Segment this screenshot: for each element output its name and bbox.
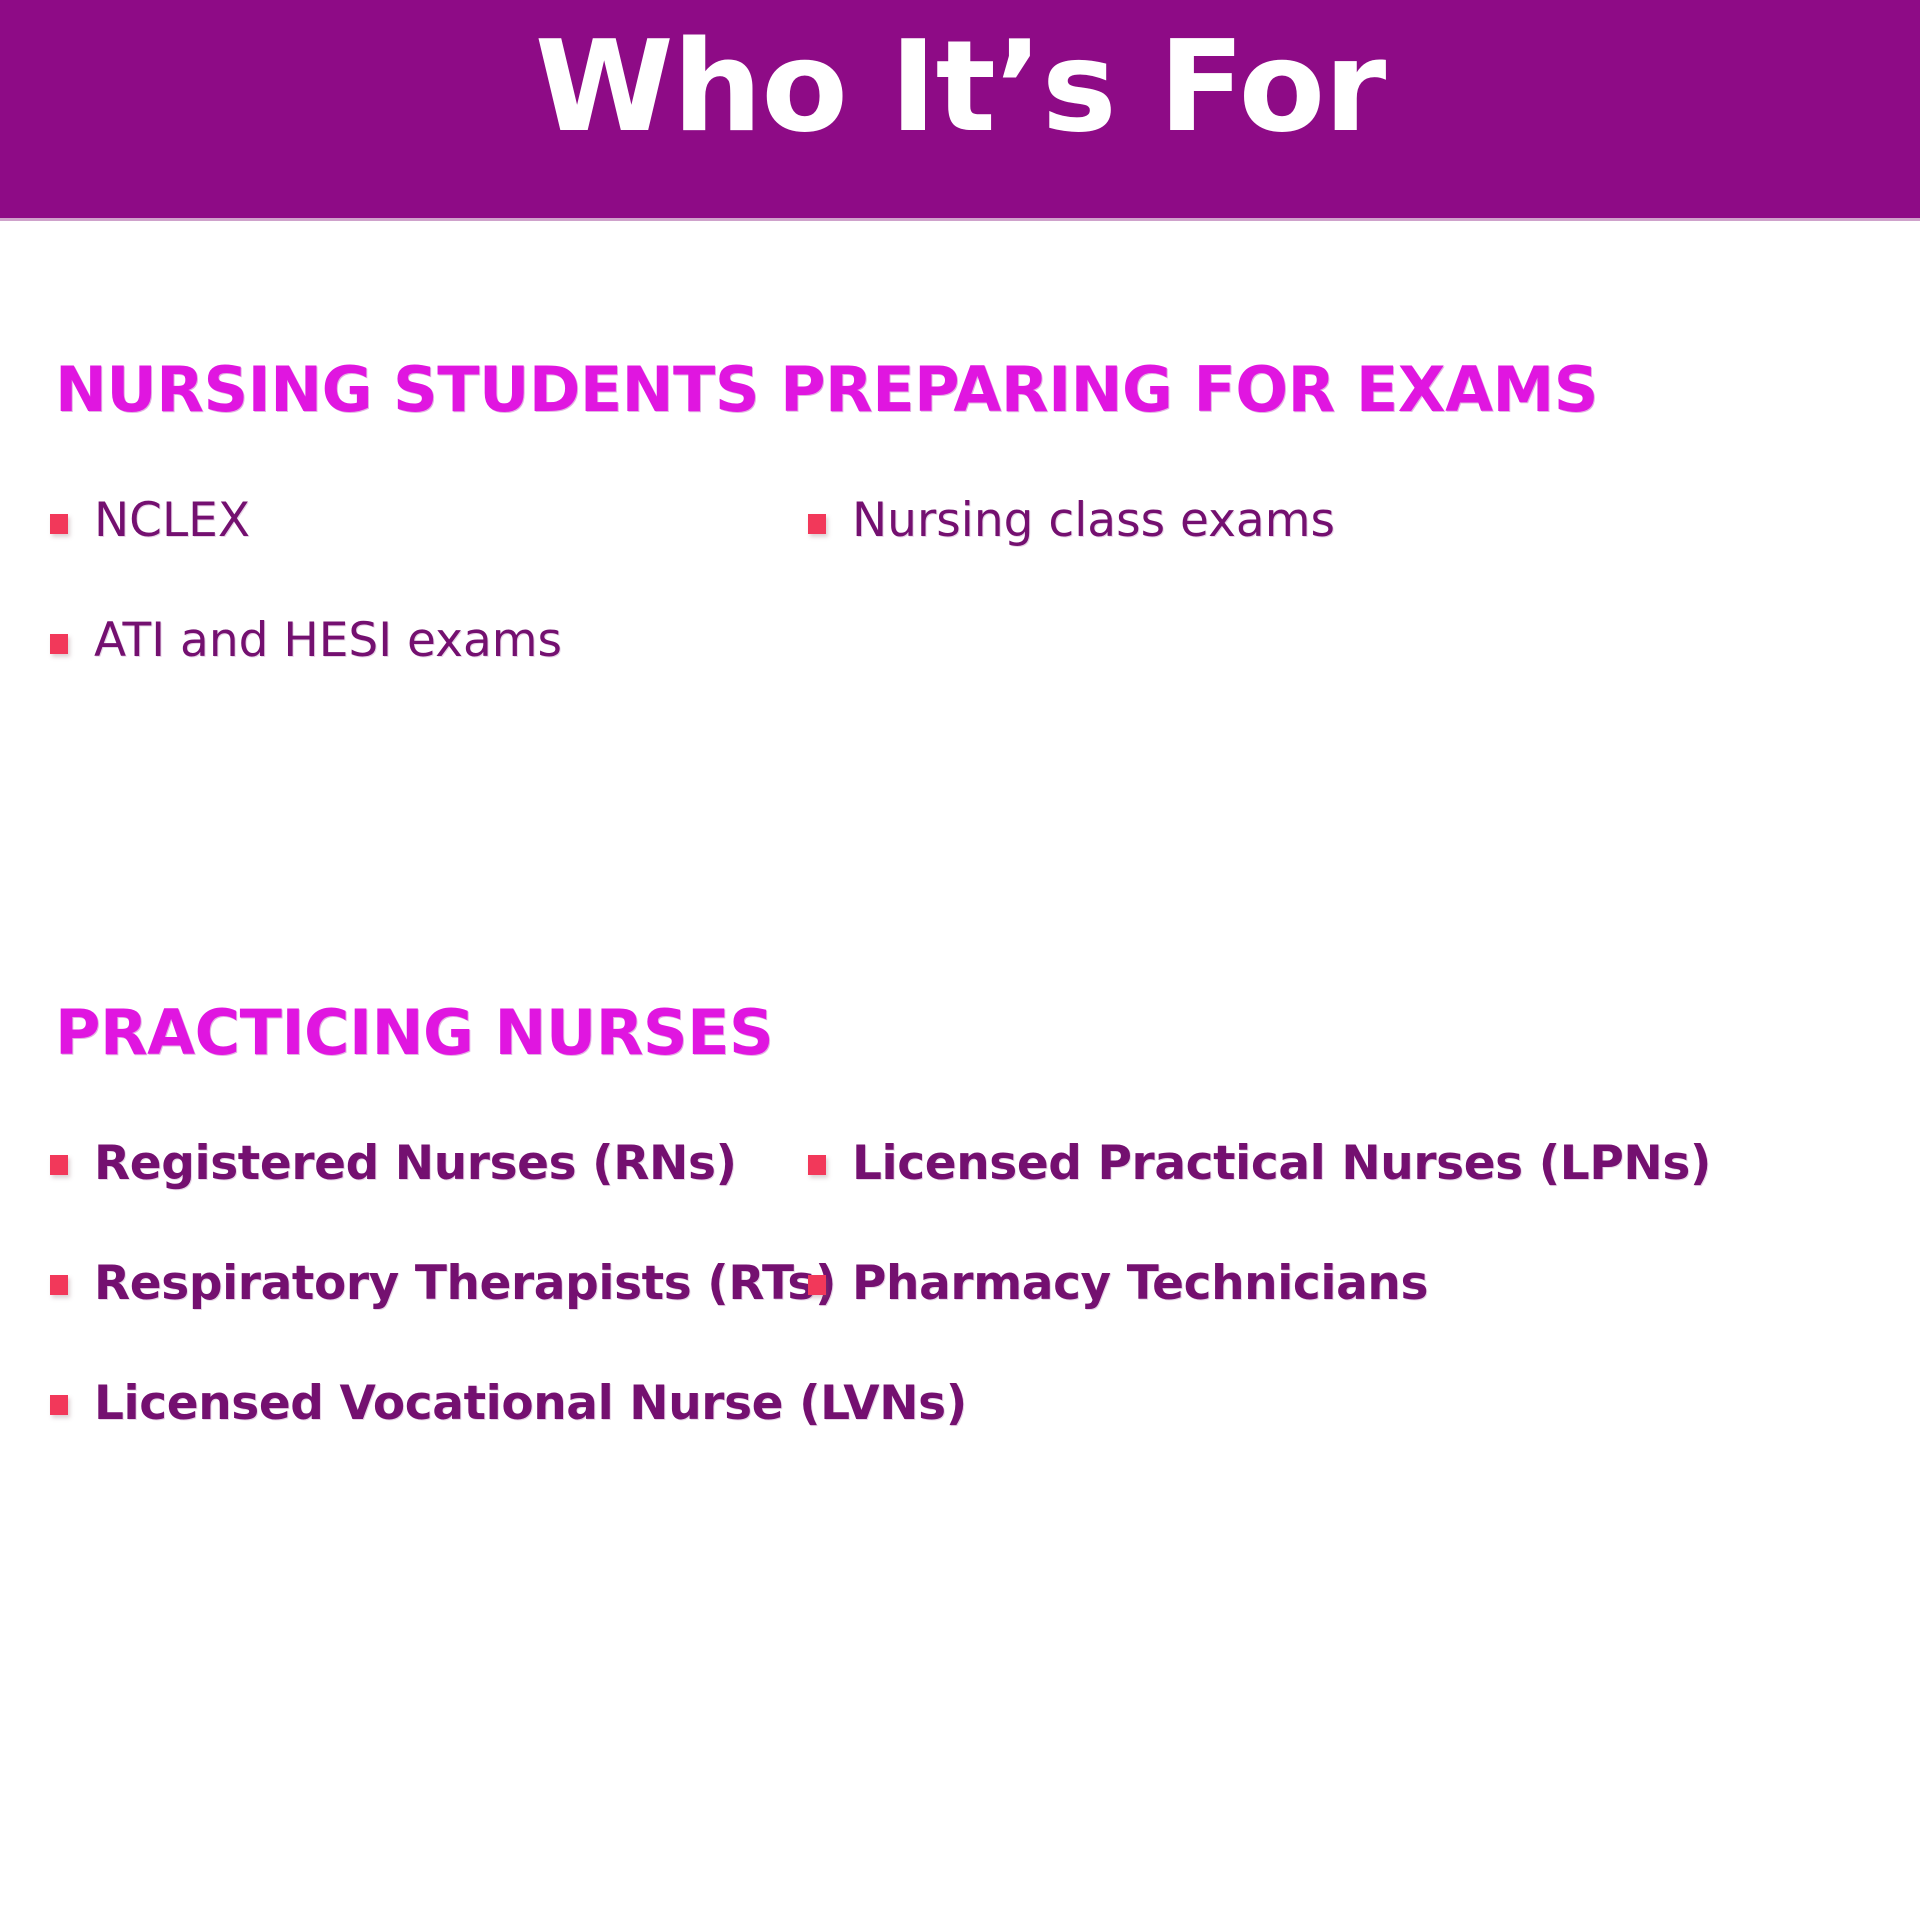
list-item[interactable]: Pharmacy Technicians: [808, 1253, 1898, 1373]
list-item-label: NCLEX: [94, 490, 250, 552]
list-item-label: Licensed Practical Nurses (LPNs): [852, 1133, 1711, 1195]
square-bullet-icon: [50, 514, 68, 534]
square-bullet-icon: [808, 1155, 826, 1175]
page-title: Who It’s For: [0, 12, 1920, 162]
section-nursing-students: NURSING STUDENTS PREPARING FOR EXAMS NCL…: [0, 352, 1920, 490]
bullet-column-left: Registered Nurses (RNs) Respiratory Ther…: [50, 1133, 830, 1493]
section-practicing-nurses: PRACTICING NURSES Registered Nurses (RNs…: [0, 995, 1920, 1133]
section-heading-practicing-nurses: PRACTICING NURSES: [55, 995, 1920, 1071]
list-item-label: Respiratory Therapists (RTs): [94, 1253, 836, 1315]
list-item-label: Nursing class exams: [852, 490, 1335, 552]
list-item[interactable]: NCLEX: [50, 490, 810, 610]
square-bullet-icon: [50, 1155, 68, 1175]
list-item[interactable]: Licensed Vocational Nurse (LVNs): [50, 1373, 830, 1493]
list-item-label: Registered Nurses (RNs): [94, 1133, 737, 1195]
list-item[interactable]: Nursing class exams: [808, 490, 1888, 610]
bullet-column-right: Nursing class exams: [808, 490, 1888, 610]
header-banner: Who It’s For: [0, 0, 1920, 218]
list-item-label: ATI and HESI exams: [94, 610, 562, 672]
square-bullet-icon: [50, 1275, 68, 1295]
list-item[interactable]: Licensed Practical Nurses (LPNs): [808, 1133, 1898, 1253]
list-item[interactable]: Registered Nurses (RNs): [50, 1133, 830, 1253]
list-item[interactable]: Respiratory Therapists (RTs): [50, 1253, 830, 1373]
square-bullet-icon: [808, 514, 826, 534]
list-item-label: Licensed Vocational Nurse (LVNs): [94, 1373, 967, 1435]
bullet-column-left: NCLEX ATI and HESI exams: [50, 490, 810, 730]
square-bullet-icon: [808, 1275, 826, 1295]
square-bullet-icon: [50, 1395, 68, 1415]
bullet-column-right: Licensed Practical Nurses (LPNs) Pharmac…: [808, 1133, 1898, 1373]
square-bullet-icon: [50, 634, 68, 654]
list-item-label: Pharmacy Technicians: [852, 1253, 1428, 1315]
list-item[interactable]: ATI and HESI exams: [50, 610, 810, 730]
header-banner-bottom-edge: [0, 218, 1920, 221]
section-heading-nursing-students: NURSING STUDENTS PREPARING FOR EXAMS: [55, 352, 1920, 428]
